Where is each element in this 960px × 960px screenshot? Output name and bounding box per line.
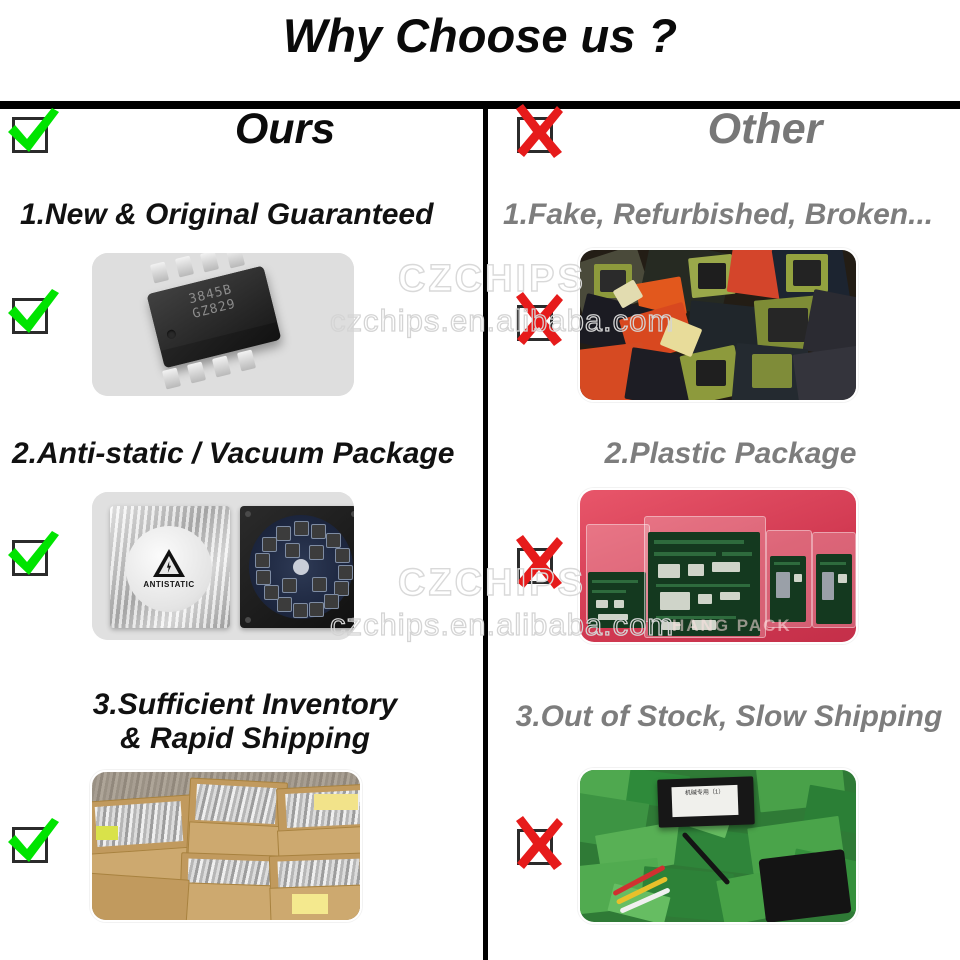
row-1-other-photo xyxy=(578,248,858,402)
antistatic-label-text: ANTISTATIC xyxy=(143,580,194,589)
x-mark-icon xyxy=(507,812,567,874)
row-2-check-mark xyxy=(8,535,52,579)
esd-warning-triangle-icon xyxy=(153,549,185,577)
component-reel xyxy=(249,515,353,619)
lightning-bolt-icon xyxy=(166,561,172,573)
green-scrap-pcb-scene: 机碱专用（1） xyxy=(580,770,856,922)
cartons-of-stock-scene xyxy=(92,772,360,920)
row-1-check-mark xyxy=(8,293,52,337)
check-mark-icon xyxy=(2,100,62,162)
row-3-ours-photo xyxy=(90,770,362,922)
pink-plastic-bag-scene: HANG PACK xyxy=(580,490,856,642)
sop8-chip-scene: 3845B GZ829 xyxy=(92,253,354,396)
row-1-ours-text: 1.New & Original Guaranteed xyxy=(20,198,470,232)
row-1-other-text: 1.Fake, Refurbished, Broken... xyxy=(503,198,958,232)
antistatic-label-disc: ANTISTATIC xyxy=(126,526,212,612)
column-heading-ours: Ours xyxy=(110,105,460,154)
chinese-label: 机碱专用（1） xyxy=(671,785,738,817)
x-mark-icon xyxy=(507,531,567,593)
row-3-other-photo: 机碱专用（1） xyxy=(578,768,858,924)
row-1-ours-photo: 3845B GZ829 xyxy=(92,253,354,396)
scrap-chips-pile-scene xyxy=(580,250,856,400)
antistatic-bag: ANTISTATIC xyxy=(110,506,230,628)
x-mark-icon xyxy=(507,100,567,162)
row-2-other-text: 2.Plastic Package xyxy=(503,437,958,471)
row-2-ours-photo: ANTISTATIC xyxy=(92,492,354,640)
chip-body: 3845B GZ829 xyxy=(147,266,282,369)
hang-pack-overlay-text: HANG PACK xyxy=(672,616,792,636)
black-flat-panel xyxy=(758,849,851,922)
row-3-check-mark xyxy=(8,822,52,866)
x-mark-icon xyxy=(507,288,567,350)
row-1-x-mark xyxy=(513,300,557,344)
row-3-x-mark xyxy=(513,824,557,868)
row-3-other-text: 3.Out of Stock, Slow Shipping xyxy=(500,700,958,734)
page-title: Why Choose us ? xyxy=(0,8,960,63)
column-heading-other: Other xyxy=(600,105,930,154)
row-3-ours-line-1: 3.Sufficient Inventory xyxy=(20,688,470,722)
check-mark-icon xyxy=(2,523,62,585)
row-3-ours-text: 3.Sufficient Inventory & Rapid Shipping xyxy=(20,688,470,755)
check-mark-icon xyxy=(2,810,62,872)
x-mark-header-other xyxy=(513,112,557,156)
column-divider xyxy=(483,109,488,960)
poster-root: Why Choose us ? Ours Other 1.New & Origi… xyxy=(0,0,960,960)
black-module-box: 机碱专用（1） xyxy=(657,776,755,827)
row-3-ours-line-2: & Rapid Shipping xyxy=(20,722,470,756)
row-2-ours-text: 2.Anti-static / Vacuum Package xyxy=(12,437,474,471)
check-mark-header-ours xyxy=(8,112,52,156)
antistatic-package-scene: ANTISTATIC xyxy=(92,492,354,640)
reel-case xyxy=(240,506,354,628)
row-2-other-photo: HANG PACK xyxy=(578,488,858,644)
check-mark-icon xyxy=(2,281,62,343)
row-2-x-mark xyxy=(513,543,557,587)
reel-hub xyxy=(293,559,309,575)
